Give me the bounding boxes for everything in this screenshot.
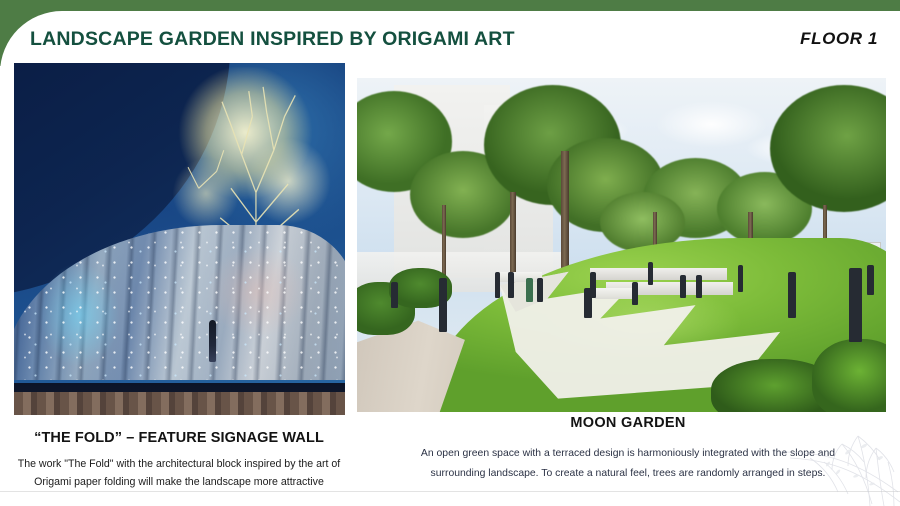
shrub-planting <box>812 339 886 412</box>
left-panel <box>14 63 345 415</box>
person-seated <box>537 278 543 301</box>
silhouette-person <box>209 320 216 362</box>
right-caption-block: MOON GARDEN An open green space with a t… <box>394 415 862 484</box>
person-seated <box>584 288 591 318</box>
right-panel <box>357 78 886 412</box>
person-standing <box>738 265 743 292</box>
person-standing <box>867 265 873 295</box>
person-walking <box>788 272 796 319</box>
person-seated <box>632 282 638 305</box>
seating-block <box>500 272 542 282</box>
page-title: LANDSCAPE GARDEN INSPIRED BY ORIGAMI ART <box>30 28 515 51</box>
left-caption-block: “THE FOLD” – FEATURE SIGNAGE WALL The wo… <box>6 430 352 491</box>
person-seated <box>391 282 397 309</box>
left-caption-title: “THE FOLD” – FEATURE SIGNAGE WALL <box>6 430 352 446</box>
stone-paving-strip <box>14 392 345 415</box>
right-caption-title: MOON GARDEN <box>394 415 862 431</box>
slide-canvas: LANDSCAPE GARDEN INSPIRED BY ORIGAMI ART… <box>0 0 900 506</box>
bottom-divider-line <box>0 491 900 492</box>
feature-signage-wall-photo[interactable] <box>14 63 345 415</box>
person-walking <box>439 278 447 331</box>
seating-block <box>595 288 632 299</box>
person-standing <box>648 262 653 285</box>
person-standing <box>495 272 501 299</box>
terrace-step <box>590 268 728 279</box>
top-green-band <box>0 0 900 11</box>
person-foreground <box>849 268 862 341</box>
person-seated <box>680 275 686 298</box>
person-seated <box>526 278 532 301</box>
person-standing <box>508 272 514 299</box>
moon-garden-photo[interactable] <box>357 78 886 412</box>
floor-badge: FLOOR 1 <box>800 29 882 49</box>
slide-header: LANDSCAPE GARDEN INSPIRED BY ORIGAMI ART… <box>0 18 900 60</box>
right-caption-body: An open green space with a terraced desi… <box>394 444 862 484</box>
wall-perforation-lights <box>14 225 345 380</box>
person-seated <box>696 275 702 298</box>
origami-fold-wall <box>14 225 345 380</box>
left-caption-body: The work "The Fold" with the architectur… <box>6 455 352 491</box>
